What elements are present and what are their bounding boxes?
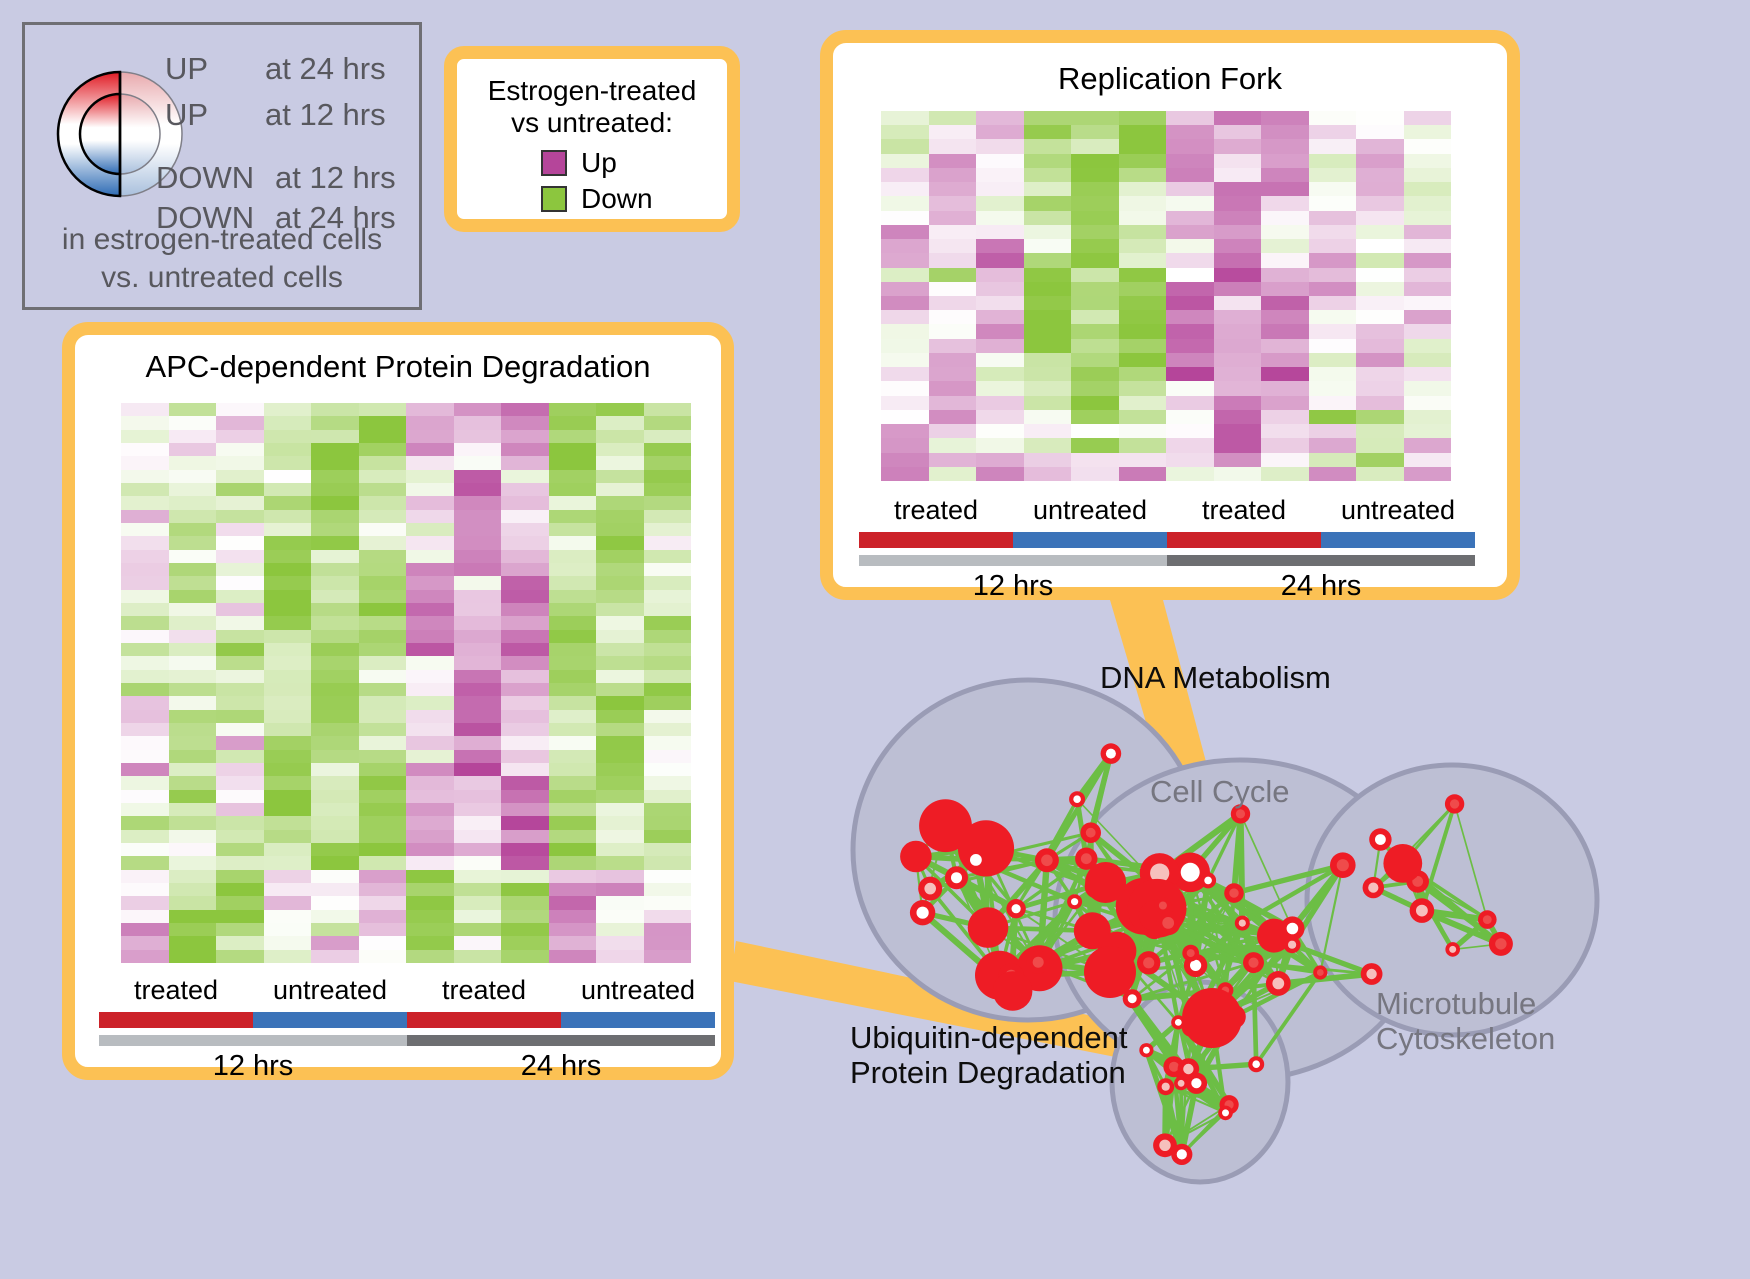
heatmap-cell — [406, 470, 454, 483]
heatmap-cell — [1309, 239, 1357, 253]
heatmap-cell — [976, 396, 1024, 410]
heatmap-cell — [1214, 253, 1262, 267]
legend-key-down-12: DOWN — [156, 160, 254, 196]
heatmap-cell — [216, 616, 264, 629]
heatmap-cell — [1309, 438, 1357, 452]
heatmap-cell — [596, 843, 644, 856]
heatmap-cell — [1214, 310, 1262, 324]
heatmap-cell — [121, 403, 169, 416]
heatmap-cell — [1404, 310, 1452, 324]
heatmap-cell — [406, 443, 454, 456]
heatmap-cell — [501, 643, 549, 656]
heatmap-cell — [121, 430, 169, 443]
heatmap-cell — [929, 310, 977, 324]
heatmap-cell — [881, 125, 929, 139]
heatmap-cell — [976, 282, 1024, 296]
heatmap-cell — [454, 603, 502, 616]
heatmap-cell — [454, 563, 502, 576]
heatmap-cell — [216, 670, 264, 683]
legend-time-down-12: at 12 hrs — [275, 160, 396, 196]
heatmap-cell — [359, 563, 407, 576]
heatmap-cell — [1261, 111, 1309, 125]
heatmap-cell — [976, 324, 1024, 338]
heatmap-cell — [1119, 154, 1167, 168]
heatmap-cell — [549, 790, 597, 803]
heatmap-cell — [406, 790, 454, 803]
network-node-core — [1375, 834, 1386, 845]
heatmap-cell — [1261, 282, 1309, 296]
heatmap-cell — [169, 576, 217, 589]
heatmap-cell — [1166, 296, 1214, 310]
network-node[interactable] — [900, 841, 932, 873]
repfork-sample-axis: treateduntreatedtreateduntreated 12 hrs2… — [859, 495, 1475, 606]
heatmap-cell — [454, 550, 502, 563]
heatmap-cell — [1024, 239, 1072, 253]
heatmap-cell — [454, 776, 502, 789]
heatmap-cell — [406, 723, 454, 736]
heatmap-cell — [121, 670, 169, 683]
heatmap-cell — [881, 367, 929, 381]
heatmap-cell — [311, 616, 359, 629]
network-node-core — [1012, 904, 1021, 913]
heatmap-cell — [596, 683, 644, 696]
heatmap-cell — [406, 750, 454, 763]
legend-up-row: Up — [541, 147, 617, 179]
heatmap-cell — [549, 656, 597, 669]
heatmap-cell — [644, 403, 692, 416]
heatmap-cell — [501, 870, 549, 883]
heatmap-cell — [311, 430, 359, 443]
heatmap-cell — [311, 816, 359, 829]
heatmap-cell — [549, 816, 597, 829]
heatmap-cell — [1071, 324, 1119, 338]
heatmap-cell — [1214, 367, 1262, 381]
heatmap-cell — [264, 923, 312, 936]
heatmap-cell — [501, 630, 549, 643]
axis-time-label: 24 hrs — [1167, 570, 1475, 603]
axis-group-label: treated — [1167, 495, 1321, 526]
heatmap-cell — [596, 763, 644, 776]
network-node-core — [1071, 898, 1078, 905]
heatmap-cell — [359, 496, 407, 509]
heatmap-cell — [121, 736, 169, 749]
heatmap-cell — [454, 923, 502, 936]
heatmap-cell — [216, 656, 264, 669]
heatmap-cell — [929, 339, 977, 353]
heatmap-cell — [359, 523, 407, 536]
network-node[interactable] — [1383, 844, 1422, 883]
heatmap-cell — [1261, 182, 1309, 196]
heatmap-cell — [596, 443, 644, 456]
heatmap-cell — [311, 910, 359, 923]
heatmap-cell — [311, 630, 359, 643]
heatmap-cell — [501, 483, 549, 496]
legend-key-up-24: UP — [165, 51, 208, 87]
network-node-core — [1143, 957, 1154, 968]
heatmap-cell — [501, 443, 549, 456]
heatmap-cell — [1071, 381, 1119, 395]
heatmap-cell — [406, 536, 454, 549]
network-label-ubiquitin: Ubiquitin-dependent Protein Degradation — [850, 1020, 1128, 1091]
heatmap-cell — [359, 776, 407, 789]
heatmap-cell — [264, 416, 312, 429]
heatmap-cell — [1024, 111, 1072, 125]
heatmap-cell — [644, 443, 692, 456]
heatmap-cell — [549, 923, 597, 936]
heatmap-cell — [216, 683, 264, 696]
heatmap-cell — [1261, 125, 1309, 139]
heatmap-cell — [644, 616, 692, 629]
heatmap-cell — [169, 896, 217, 909]
repfork-panel-title: Replication Fork — [833, 61, 1507, 97]
legend-up-label: Up — [581, 147, 617, 179]
heatmap-cell — [169, 950, 217, 963]
heatmap-cell — [311, 590, 359, 603]
heatmap-cell — [406, 616, 454, 629]
heatmap-cell — [406, 776, 454, 789]
heatmap-cell — [976, 353, 1024, 367]
heatmap-cell — [644, 750, 692, 763]
heatmap-cell — [359, 630, 407, 643]
network-node-core — [1181, 863, 1200, 882]
heatmap-cell — [1119, 424, 1167, 438]
heatmap-cell — [596, 696, 644, 709]
heatmap-cell — [1309, 125, 1357, 139]
heatmap-cell — [1214, 324, 1262, 338]
heatmap-cell — [169, 563, 217, 576]
heatmap-cell — [929, 453, 977, 467]
heatmap-cell — [216, 443, 264, 456]
heatmap-cell — [169, 816, 217, 829]
heatmap-cell — [121, 750, 169, 763]
heatmap-cell — [454, 870, 502, 883]
heatmap-cell — [596, 723, 644, 736]
heatmap-cell — [406, 483, 454, 496]
heatmap-cell — [644, 696, 692, 709]
heatmap-cell — [121, 416, 169, 429]
network-node[interactable] — [1085, 862, 1126, 903]
heatmap-cell — [216, 923, 264, 936]
heatmap-cell — [454, 896, 502, 909]
heatmap-cell — [169, 496, 217, 509]
heatmap-cell — [596, 630, 644, 643]
heatmap-cell — [1166, 324, 1214, 338]
heatmap-cell — [1166, 453, 1214, 467]
apc-treatment-bar — [99, 1012, 715, 1028]
heatmap-cell — [501, 763, 549, 776]
heatmap-cell — [121, 816, 169, 829]
heatmap-cell — [1214, 438, 1262, 452]
heatmap-cell — [264, 470, 312, 483]
network-edge — [1254, 963, 1257, 1065]
heatmap-cell — [644, 590, 692, 603]
heatmap-cell — [454, 523, 502, 536]
heatmap-cell — [121, 803, 169, 816]
heatmap-cell — [454, 830, 502, 843]
heatmap-cell — [644, 710, 692, 723]
heatmap-cell — [549, 710, 597, 723]
heatmap-cell — [311, 576, 359, 589]
heatmap-cell — [169, 923, 217, 936]
heatmap-cell — [121, 470, 169, 483]
heatmap-cell — [121, 510, 169, 523]
network-label-dna-metabolism: DNA Metabolism — [1100, 660, 1331, 695]
heatmap-cell — [1071, 211, 1119, 225]
heatmap-cell — [264, 910, 312, 923]
heatmap-cell — [644, 550, 692, 563]
heatmap-cell — [216, 950, 264, 963]
heatmap-cell — [1309, 296, 1357, 310]
heatmap-cell — [406, 843, 454, 856]
heatmap-cell — [169, 550, 217, 563]
heatmap-cell — [264, 763, 312, 776]
heatmap-cell — [454, 576, 502, 589]
heatmap-cell — [549, 470, 597, 483]
heatmap-cell — [169, 670, 217, 683]
heatmap-cell — [644, 576, 692, 589]
heatmap-cell — [596, 856, 644, 869]
heatmap-cell — [1071, 168, 1119, 182]
heatmap-cell — [1024, 438, 1072, 452]
heatmap-cell — [264, 603, 312, 616]
heatmap-cell — [1024, 268, 1072, 282]
replication-fork-panel: Replication Fork treateduntreatedtreated… — [820, 30, 1520, 600]
heatmap-cell — [311, 536, 359, 549]
heatmap-cell — [1404, 182, 1452, 196]
heatmap-cell — [644, 803, 692, 816]
heatmap-cell — [1166, 139, 1214, 153]
heatmap-cell — [549, 750, 597, 763]
heatmap-cell — [644, 816, 692, 829]
heatmap-cell — [976, 253, 1024, 267]
heatmap-cell — [1309, 196, 1357, 210]
heatmap-cell — [454, 496, 502, 509]
heatmap-cell — [169, 750, 217, 763]
heatmap-cell — [311, 483, 359, 496]
heatmap-cell — [1024, 253, 1072, 267]
heatmap-cell — [311, 563, 359, 576]
heatmap-cell — [359, 550, 407, 563]
apc-sample-axis: treateduntreatedtreateduntreated 12 hrs2… — [99, 975, 715, 1086]
heatmap-cell — [1071, 253, 1119, 267]
heatmap-cell — [454, 803, 502, 816]
axis-time-bar-segment — [407, 1035, 715, 1046]
heatmap-cell — [1214, 111, 1262, 125]
heatmap-cell — [1261, 339, 1309, 353]
heatmap-cell — [406, 403, 454, 416]
heatmap-cell — [359, 896, 407, 909]
heatmap-cell — [311, 403, 359, 416]
heatmap-cell — [121, 763, 169, 776]
heatmap-cell — [121, 910, 169, 923]
heatmap-cell — [1309, 381, 1357, 395]
heatmap-cell — [359, 670, 407, 683]
heatmap-cell — [1309, 225, 1357, 239]
heatmap-cell — [1166, 268, 1214, 282]
heatmap-cell — [644, 870, 692, 883]
heatmap-cell — [1309, 339, 1357, 353]
apc-panel: APC-dependent Protein Degradation treate… — [62, 322, 734, 1080]
heatmap-cell — [1261, 381, 1309, 395]
heatmap-cell — [929, 353, 977, 367]
axis-group-bar — [1013, 532, 1167, 548]
heatmap-cell — [264, 510, 312, 523]
network-node-core — [1081, 853, 1092, 864]
heatmap-cell — [501, 923, 549, 936]
heatmap-cell — [549, 683, 597, 696]
axis-group-label: untreated — [561, 975, 715, 1006]
network-label-microtubule: Microtubule Cytoskeleton — [1376, 986, 1555, 1057]
heatmap-cell — [501, 843, 549, 856]
heatmap-cell — [1309, 467, 1357, 481]
network-node-core — [1190, 960, 1201, 971]
heatmap-cell — [501, 536, 549, 549]
heatmap-cell — [1404, 196, 1452, 210]
heatmap-cell — [359, 483, 407, 496]
heatmap-cell — [501, 523, 549, 536]
network-node[interactable] — [919, 799, 972, 852]
heatmap-cell — [596, 590, 644, 603]
heatmap-cell — [169, 616, 217, 629]
heatmap-cell — [596, 656, 644, 669]
heatmap-cell — [264, 590, 312, 603]
network-node-core — [1248, 958, 1258, 968]
heatmap-cell — [311, 776, 359, 789]
heatmap-cell — [1261, 438, 1309, 452]
heatmap-cell — [644, 790, 692, 803]
heatmap-cell — [644, 776, 692, 789]
heatmap-cell — [1404, 111, 1452, 125]
axis-group-label: untreated — [1321, 495, 1475, 526]
network-node[interactable] — [993, 971, 1033, 1011]
heatmap-cell — [169, 723, 217, 736]
heatmap-cell — [596, 510, 644, 523]
heatmap-cell — [644, 470, 692, 483]
heatmap-cell — [1071, 125, 1119, 139]
heatmap-cell — [311, 523, 359, 536]
heatmap-cell — [881, 410, 929, 424]
heatmap-cell — [1356, 438, 1404, 452]
heatmap-cell — [1404, 367, 1452, 381]
heatmap-cell — [1024, 182, 1072, 196]
heatmap-cell — [1356, 396, 1404, 410]
heatmap-cell — [976, 381, 1024, 395]
heatmap-cell — [1356, 310, 1404, 324]
heatmap-cell — [501, 856, 549, 869]
axis-group-bar — [561, 1012, 715, 1028]
heatmap-cell — [454, 510, 502, 523]
heatmap-cell — [1119, 168, 1167, 182]
heatmap-cell — [1404, 225, 1452, 239]
heatmap-cell — [976, 225, 1024, 239]
heatmap-cell — [501, 710, 549, 723]
heatmap-cell — [1214, 182, 1262, 196]
heatmap-cell — [1356, 282, 1404, 296]
heatmap-cell — [881, 111, 929, 125]
network-node-core — [1175, 1019, 1182, 1026]
legend-key-up-12: UP — [165, 97, 208, 133]
heatmap-cell — [881, 453, 929, 467]
heatmap-cell — [549, 510, 597, 523]
heatmap-cell — [549, 550, 597, 563]
heatmap-cell — [1356, 253, 1404, 267]
heatmap-cell — [596, 523, 644, 536]
heatmap-cell — [1071, 410, 1119, 424]
apc-group-labels: treateduntreatedtreateduntreated — [99, 975, 715, 1009]
heatmap-cell — [406, 683, 454, 696]
network-node[interactable] — [1182, 988, 1242, 1048]
heatmap-cell — [549, 910, 597, 923]
heatmap-cell — [881, 424, 929, 438]
legend-down-label: Down — [581, 183, 653, 215]
heatmap-cell — [406, 496, 454, 509]
heatmap-cell — [216, 510, 264, 523]
network-node-core — [1086, 828, 1096, 838]
network-node-core — [1033, 957, 1044, 968]
heatmap-cell — [216, 936, 264, 949]
heatmap-cell — [454, 696, 502, 709]
heatmap-cell — [549, 536, 597, 549]
heatmap-cell — [1309, 139, 1357, 153]
heatmap-cell — [1024, 410, 1072, 424]
heatmap-cell — [1024, 282, 1072, 296]
heatmap-cell — [881, 310, 929, 324]
heatmap-cell — [1261, 396, 1309, 410]
heatmap-cell — [216, 483, 264, 496]
heatmap-cell — [501, 563, 549, 576]
heatmap-cell — [1119, 282, 1167, 296]
heatmap-cell — [596, 550, 644, 563]
heatmap-cell — [1071, 367, 1119, 381]
legend-time-up-24: at 24 hrs — [265, 51, 386, 87]
heatmap-cell — [454, 856, 502, 869]
heatmap-cell — [501, 803, 549, 816]
heatmap-cell — [1309, 211, 1357, 225]
heatmap-cell — [454, 816, 502, 829]
heatmap-cell — [1356, 453, 1404, 467]
heatmap-cell — [1214, 453, 1262, 467]
heatmap-cell — [644, 536, 692, 549]
heatmap-cell — [549, 590, 597, 603]
heatmap-cell — [359, 870, 407, 883]
network-node[interactable] — [1084, 946, 1136, 998]
heatmap-cell — [311, 603, 359, 616]
heatmap-cell — [1166, 196, 1214, 210]
heatmap-cell — [549, 603, 597, 616]
heatmap-cell — [596, 416, 644, 429]
heatmap-cell — [311, 763, 359, 776]
heatmap-cell — [121, 870, 169, 883]
network-node-core — [1236, 809, 1245, 818]
heatmap-cell — [1071, 268, 1119, 282]
heatmap-cell — [406, 670, 454, 683]
network-node[interactable] — [968, 907, 1009, 948]
heatmap-cell — [1119, 467, 1167, 481]
axis-group-label: treated — [859, 495, 1013, 526]
network-node-core — [1222, 1109, 1229, 1116]
apc-time-labels: 12 hrs24 hrs — [99, 1050, 715, 1086]
heatmap-cell — [1119, 225, 1167, 239]
heatmap-cell — [976, 211, 1024, 225]
network-node-core — [1177, 1149, 1187, 1159]
heatmap-cell — [549, 843, 597, 856]
heatmap-cell — [121, 536, 169, 549]
heatmap-cell — [121, 643, 169, 656]
heatmap-cell — [976, 339, 1024, 353]
axis-group-bar — [859, 532, 1013, 548]
heatmap-cell — [454, 403, 502, 416]
heatmap-cell — [121, 950, 169, 963]
